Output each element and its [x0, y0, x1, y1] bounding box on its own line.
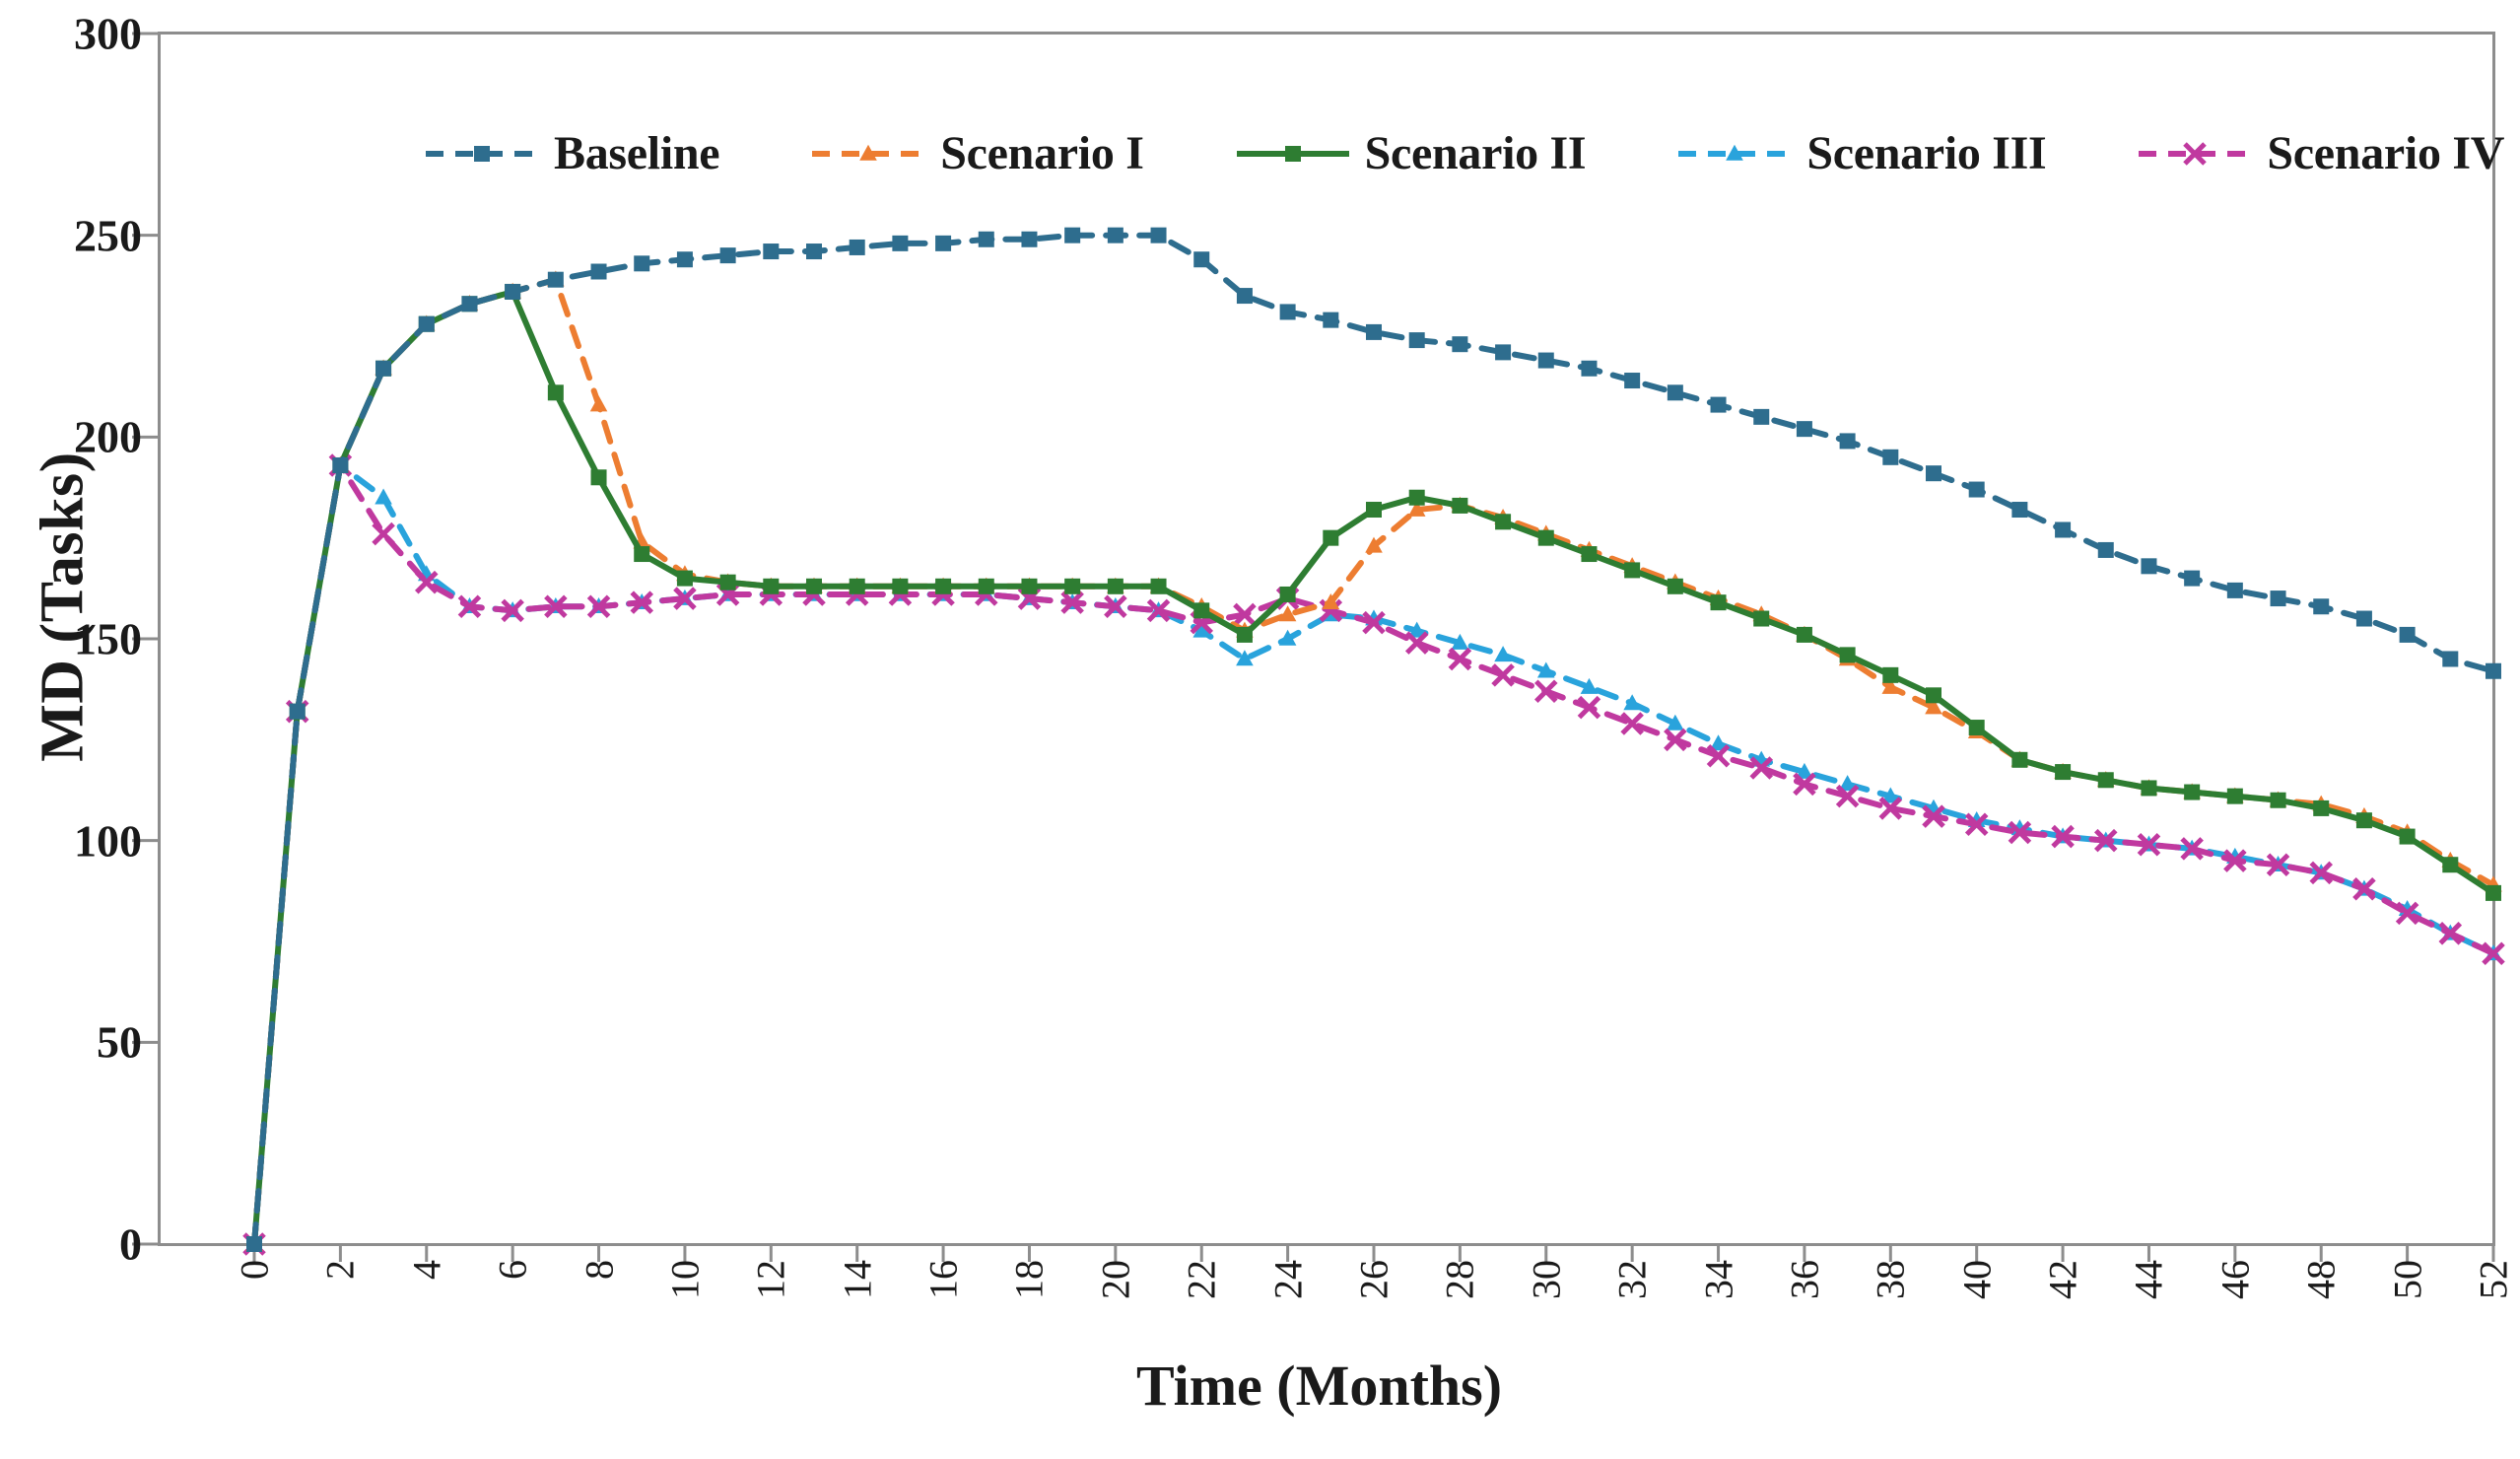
legend-item-scenario-ii[interactable]: Scenario II — [1235, 126, 1587, 180]
data-series-layer — [244, 228, 2503, 1254]
legend-label: Scenario IV — [2267, 126, 2504, 180]
chart-legend: BaselineScenario IScenario IIScenario II… — [424, 126, 2504, 180]
legend-item-scenario-i[interactable]: Scenario I — [810, 126, 1143, 180]
series-scenario-iii — [245, 456, 2502, 1251]
chart-figure: 050100150200250300 024681012141618202224… — [0, 0, 2520, 1459]
y-tick-label: 0 — [24, 1218, 142, 1271]
legend-label: Scenario I — [940, 126, 1143, 180]
legend-swatch-icon — [424, 139, 540, 169]
chart-canvas — [0, 0, 2520, 1459]
series-scenario-ii — [246, 284, 2501, 1252]
legend-item-scenario-iii[interactable]: Scenario III — [1676, 126, 2046, 180]
y-tick-label: 300 — [24, 8, 142, 60]
y-axis-title: MD (Tasks) — [29, 312, 99, 903]
legend-swatch-icon — [2137, 139, 2253, 169]
legend-label: Scenario III — [1806, 126, 2046, 180]
legend-label: Baseline — [554, 126, 719, 180]
legend-label: Scenario II — [1365, 126, 1587, 180]
x-axis-title: Time (Months) — [0, 1353, 2520, 1419]
series-scenario-iv — [244, 455, 2503, 1254]
legend-swatch-icon — [810, 139, 926, 169]
legend-swatch-icon — [1235, 139, 1351, 169]
y-tick-label: 50 — [24, 1016, 142, 1069]
legend-item-baseline[interactable]: Baseline — [424, 126, 719, 180]
legend-swatch-icon — [1676, 139, 1793, 169]
series-scenario-i — [245, 270, 2502, 1250]
legend-item-scenario-iv[interactable]: Scenario IV — [2137, 126, 2504, 180]
y-tick-label: 250 — [24, 209, 142, 261]
series-baseline — [246, 228, 2501, 1252]
